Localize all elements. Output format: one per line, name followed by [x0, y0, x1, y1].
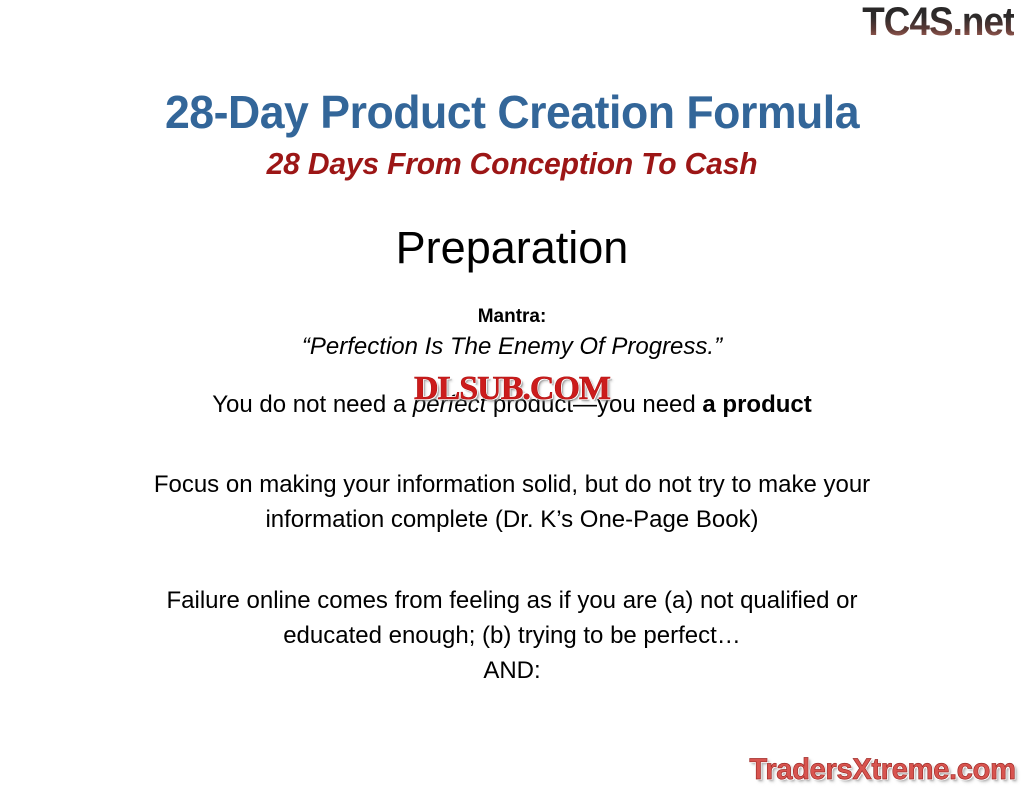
section-heading-preparation: Preparation	[0, 223, 1024, 273]
paragraph-failure-line-2: educated enough; (b) trying to be perfec…	[62, 619, 962, 654]
paragraph-failure-line-3: AND:	[62, 654, 962, 689]
tc4s-brand-logo: TC4S.net	[862, 2, 1014, 42]
product-statement-bold-a-product: a product	[702, 391, 811, 418]
paragraph-focus-line-1: Focus on making your information solid, …	[62, 468, 962, 503]
paragraph-failure-line-1: Failure online comes from feeling as if …	[62, 584, 962, 619]
mantra-label: Mantra:	[62, 305, 962, 329]
slide-canvas: TC4S.net 28-Day Product Creation Formula…	[0, 0, 1024, 791]
slide-body: Mantra: “Perfection Is The Enemy Of Prog…	[62, 305, 962, 688]
product-statement-part1: You do not need a	[212, 391, 413, 418]
tradersxtreme-brand-logo: TradersXtreme.com	[750, 755, 1016, 785]
paragraph-focus: Focus on making your information solid, …	[62, 468, 962, 538]
paragraph-focus-line-2: information complete (Dr. K’s One-Page B…	[62, 503, 962, 538]
dlsub-watermark: DLSUB.COM	[414, 372, 610, 406]
paragraph-failure: Failure online comes from feeling as if …	[62, 584, 962, 688]
mantra-quote: “Perfection Is The Enemy Of Progress.”	[62, 330, 962, 365]
slide-title: 28-Day Product Creation Formula	[15, 88, 1008, 136]
slide-subtitle: 28 Days From Conception To Cash	[15, 148, 1008, 181]
